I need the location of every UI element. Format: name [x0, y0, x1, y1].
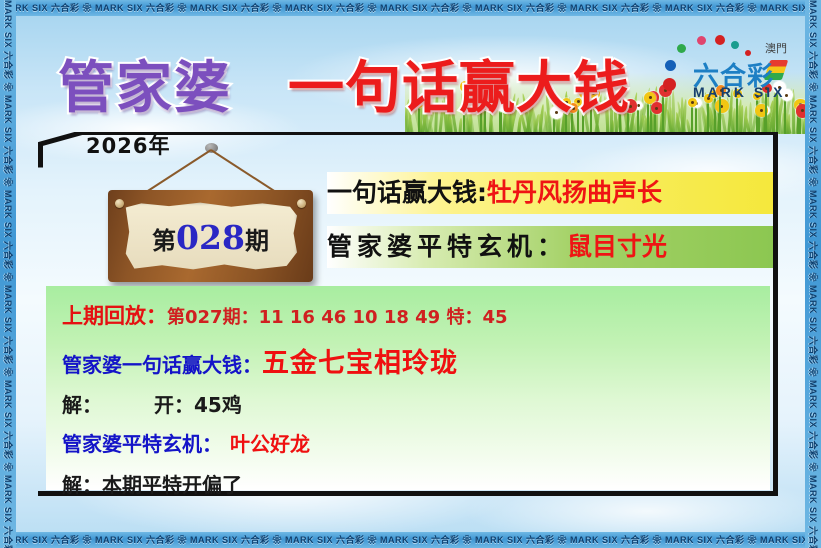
- border-top: MARK SIX 六合彩 ❀ MARK SIX 六合彩 ❀ MARK SIX 六…: [0, 0, 821, 16]
- solve1-label: 解：: [62, 393, 102, 417]
- headline-bar-yellow: 一句话赢大钱:牡丹风扬曲声长: [327, 172, 773, 214]
- headline-bar-green: 管家婆平特玄机：鼠目寸光: [327, 226, 773, 268]
- grass-blade: [670, 114, 673, 134]
- flower-stem: [691, 105, 693, 134]
- logo-dot-blue: [665, 60, 676, 71]
- issue-number-text: 第028期: [108, 218, 313, 257]
- logo-dot-green: [677, 44, 686, 53]
- solve-row-1: 解：开：45鸡: [62, 389, 770, 418]
- riddle-answer: 叶公好龙: [230, 432, 310, 456]
- border-right: MARK SIX 六合彩 ❀ MARK SIX 六合彩 ❀ MARK SIX 六…: [805, 0, 821, 548]
- issue-sign-board: 第028期: [108, 190, 313, 282]
- issue-suffix: 期: [245, 226, 269, 255]
- logo-region-label: 澳門: [765, 40, 787, 56]
- border-left: MARK SIX 六合彩 ❀ MARK SIX 六合彩 ❀ MARK SIX 六…: [0, 0, 16, 548]
- flower-stem: [654, 112, 656, 134]
- border-bottom: MARK SIX 六合彩 ❀ MARK SIX 六合彩 ❀ MARK SIX 六…: [0, 532, 821, 548]
- issue-prefix: 第: [152, 226, 176, 255]
- flower-stem: [637, 108, 639, 134]
- sign-screw-right: [297, 199, 306, 208]
- flower-stem: [799, 116, 801, 134]
- flower-icon: [796, 104, 805, 118]
- issue-number: 028: [176, 218, 245, 257]
- solve-row-2: 解：本期平特开偏了: [62, 469, 770, 498]
- logo-dot-pink: [697, 36, 706, 45]
- header: 管家婆 一句话赢大钱 澳門 六合彩 MARK SIX: [16, 16, 805, 128]
- riddle-label: 管家婆平特玄机：: [62, 432, 222, 456]
- solve1-value: 开：45鸡: [154, 393, 242, 417]
- mark-six-logo: 澳門 六合彩 MARK SIX: [663, 34, 791, 108]
- riddle-row: 管家婆平特玄机：叶公好龙: [62, 428, 770, 457]
- replay-value: 第027期：11 16 46 10 18 49 特：45: [167, 307, 508, 328]
- border-pattern-text: MARK SIX 六合彩 ❀ MARK SIX 六合彩 ❀ MARK SIX 六…: [0, 532, 821, 548]
- border-pattern-text: MARK SIX 六合彩 ❀ MARK SIX 六合彩 ❀ MARK SIX 六…: [805, 0, 821, 548]
- logo-dot-red2: [715, 35, 725, 45]
- poster-canvas: MARK SIX 六合彩 ❀ MARK SIX 六合彩 ❀ MARK SIX 六…: [0, 0, 821, 548]
- replay-row: 上期回放：第027期：11 16 46 10 18 49 特：45: [62, 300, 770, 330]
- flower-stem: [695, 106, 697, 134]
- flower-stem: [647, 102, 649, 134]
- border-pattern-text: MARK SIX 六合彩 ❀ MARK SIX 六合彩 ❀ MARK SIX 六…: [0, 0, 16, 548]
- phrase-row: 管家婆一句话赢大钱：五金七宝相玲珑: [62, 341, 770, 380]
- headline-green-label: 管家婆平特玄机：: [327, 232, 567, 261]
- phrase-label: 管家婆一句话赢大钱：: [62, 353, 262, 377]
- title-brand: 管家婆: [58, 43, 232, 124]
- sign-screw-left: [115, 199, 124, 208]
- replay-label: 上期回放：: [62, 304, 167, 328]
- content-panel: 上期回放：第027期：11 16 46 10 18 49 特：45 管家婆一句话…: [46, 286, 770, 490]
- headline-yellow-answer: 牡丹风扬曲声长: [487, 178, 662, 207]
- logo-name-en: MARK SIX: [693, 84, 785, 100]
- title-slogan: 一句话赢大钱: [288, 43, 630, 124]
- phrase-answer: 五金七宝相玲珑: [262, 348, 458, 379]
- border-pattern-text: MARK SIX 六合彩 ❀ MARK SIX 六合彩 ❀ MARK SIX 六…: [0, 0, 821, 16]
- logo-dot-teal: [731, 41, 739, 49]
- headline-green-answer: 鼠目寸光: [567, 232, 667, 261]
- headline-yellow-label: 一句话赢大钱:: [327, 178, 487, 207]
- logo-dot-red: [663, 78, 676, 91]
